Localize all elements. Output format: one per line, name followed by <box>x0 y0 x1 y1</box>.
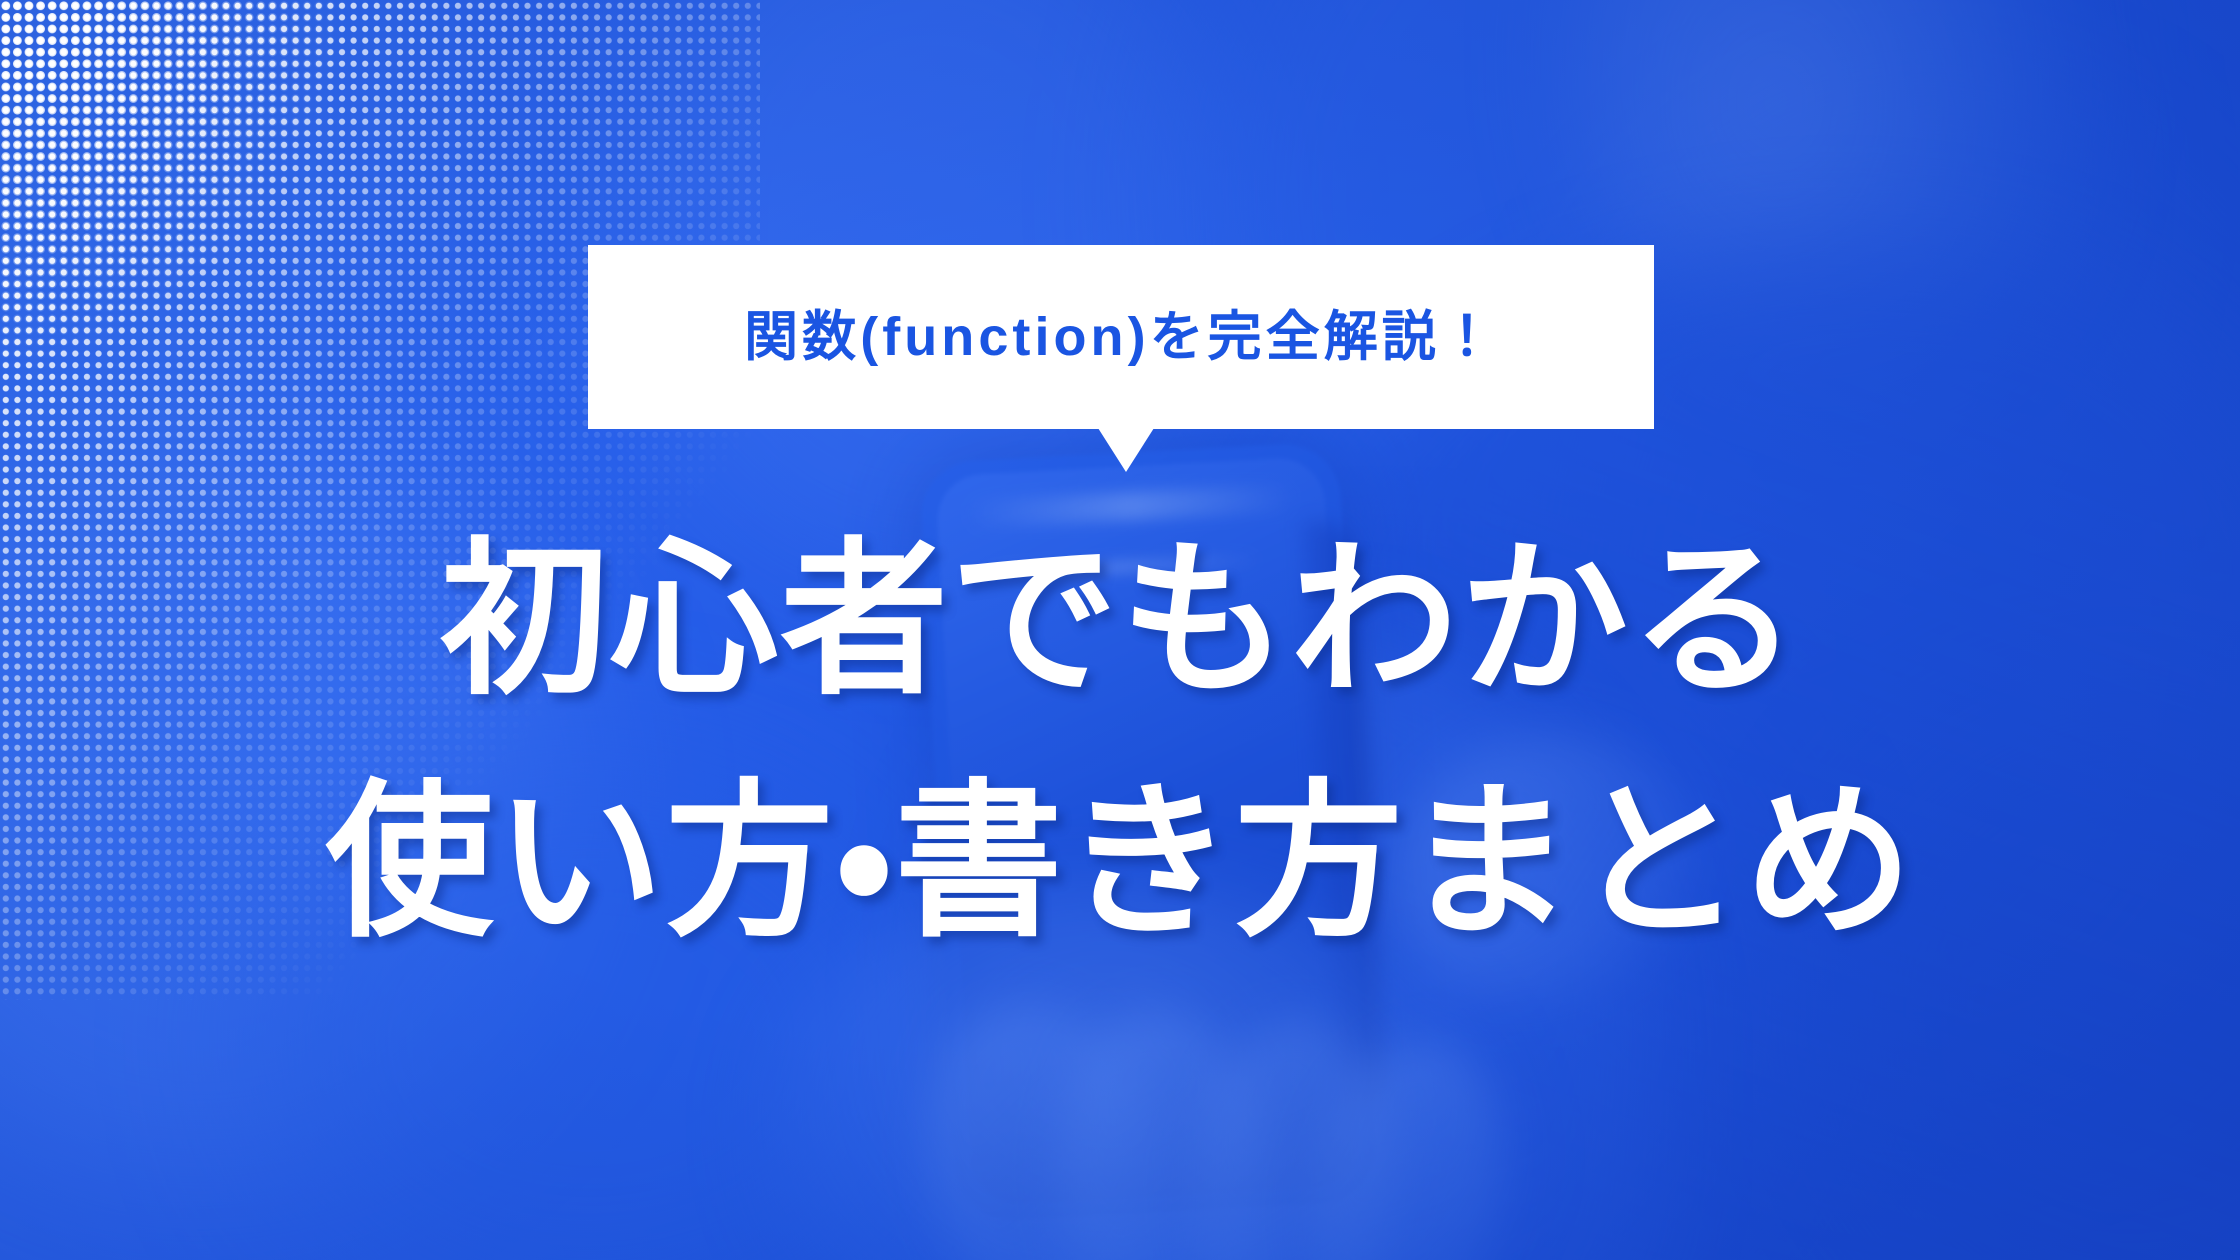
badge-speech-bubble: 関数(function)を完全解説！ <box>588 245 1654 429</box>
badge-bubble-tail <box>1098 428 1154 472</box>
page-title-line-2: 使い方・書き方まとめ <box>0 742 2240 984</box>
page-title-line-1: 初心者でもわかる <box>0 500 2240 742</box>
badge-label: 関数(function)を完全解説！ <box>744 310 1498 364</box>
eyecatch-canvas: 関数(function)を完全解説！ 初心者でもわかる 使い方・書き方まとめ <box>0 0 2240 1260</box>
page-title: 初心者でもわかる 使い方・書き方まとめ <box>0 500 2240 984</box>
